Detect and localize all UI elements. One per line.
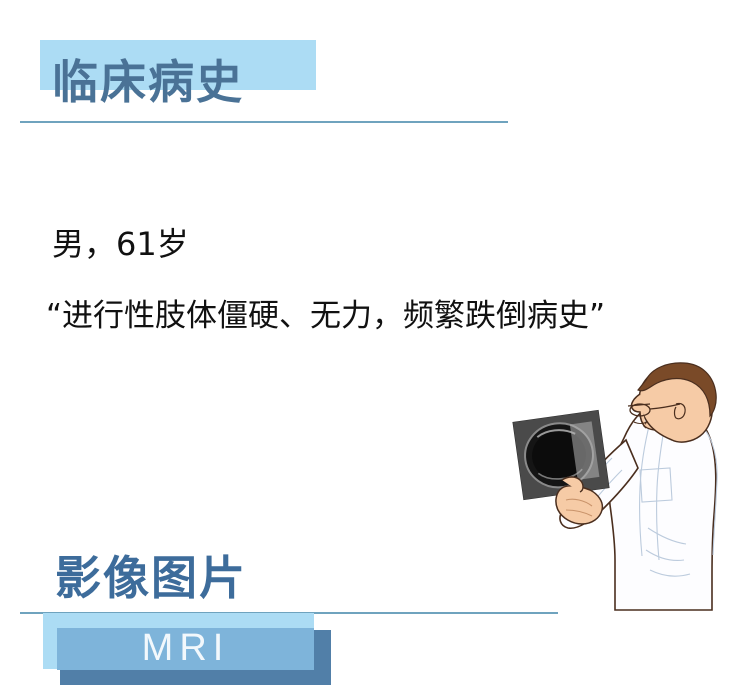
presenting-history-quote: “进行性肢体僵硬、无力，频繁跌倒病史”	[46, 294, 605, 338]
film-image-content	[513, 410, 609, 499]
patient-demographics-line: 男，61岁	[52, 222, 189, 266]
imaging-heading-text: 影像图片	[55, 552, 247, 604]
mri-modality-label: MRI	[57, 624, 314, 672]
clinical-heading-divider	[20, 121, 508, 123]
mri-film	[513, 410, 609, 499]
slide-canvas: 临床病史 男，61岁 “进行性肢体僵硬、无力，频繁跌倒病史” 影像图片 MRI	[0, 0, 751, 696]
clinical-heading-text: 临床病史	[52, 56, 244, 108]
doctor-holding-mri-film-illustration	[500, 360, 751, 620]
